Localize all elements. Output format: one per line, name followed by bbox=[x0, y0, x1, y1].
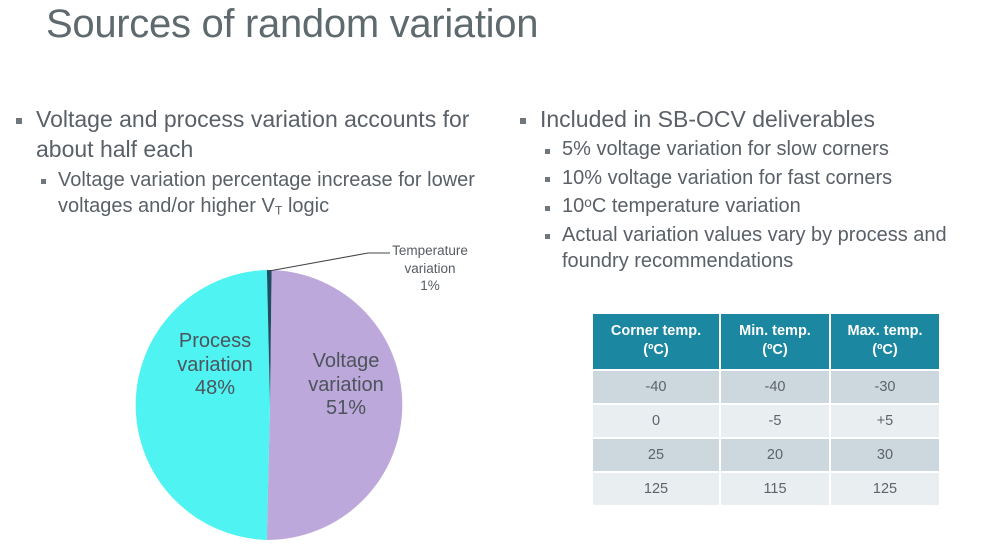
header-line2: (ºC) bbox=[872, 342, 897, 358]
list-item: 10% voltage variation for fast corners bbox=[542, 165, 996, 191]
table-row: 25 20 30 bbox=[593, 439, 939, 471]
list-item: Included in SB-OCV deliverables bbox=[516, 104, 996, 134]
table-row: 0 -5 +5 bbox=[593, 405, 939, 437]
table-header-cell-corner-temp: Corner temp. (ºC) bbox=[593, 314, 719, 369]
table-cell: 20 bbox=[721, 439, 829, 471]
table-cell: 30 bbox=[831, 439, 939, 471]
table-cell: -30 bbox=[831, 371, 939, 403]
pie-slice-process[interactable] bbox=[136, 270, 270, 540]
table-cell: 125 bbox=[831, 473, 939, 505]
header-line1: Min. temp. bbox=[739, 323, 811, 339]
corner-temperature-table: Corner temp. (ºC) Min. temp. (ºC) Max. t… bbox=[591, 312, 941, 507]
bullet-text-tail: C temperature variation bbox=[592, 195, 801, 217]
header-line2: (ºC) bbox=[762, 342, 787, 358]
table-cell: +5 bbox=[831, 405, 939, 437]
bullet-text: 10 bbox=[562, 195, 584, 217]
bullet-text: Actual variation values vary by process … bbox=[562, 224, 947, 272]
table-header: Corner temp. (ºC) Min. temp. (ºC) Max. t… bbox=[593, 314, 939, 369]
bullet-text: 10% voltage variation for fast corners bbox=[562, 167, 892, 189]
right-bullet-list: Included in SB-OCV deliverables 5% volta… bbox=[516, 104, 996, 274]
table-cell: -40 bbox=[721, 371, 829, 403]
bullet-text: 5% voltage variation for slow corners bbox=[562, 138, 889, 160]
table-cell: 115 bbox=[721, 473, 829, 505]
right-content-column: Included in SB-OCV deliverables 5% volta… bbox=[516, 104, 996, 276]
table-header-cell-min-temp: Min. temp. (ºC) bbox=[721, 314, 829, 369]
bullet-text: Voltage and process variation accounts f… bbox=[36, 106, 469, 162]
header-line1: Corner temp. bbox=[611, 323, 701, 339]
degree-superscript: o bbox=[584, 195, 592, 210]
table-cell: -5 bbox=[721, 405, 829, 437]
callout-leader-line bbox=[269, 253, 390, 271]
bullet-text: Voltage variation percentage increase fo… bbox=[58, 169, 475, 217]
table-header-row: Corner temp. (ºC) Min. temp. (ºC) Max. t… bbox=[593, 314, 939, 369]
header-line2: (ºC) bbox=[643, 342, 668, 358]
pie-chart: Process variation 48% Voltage variation … bbox=[118, 238, 498, 548]
table-cell: -40 bbox=[593, 371, 719, 403]
table-body: -40 -40 -30 0 -5 +5 25 20 30 125 115 125 bbox=[593, 371, 939, 505]
list-item: Actual variation values vary by process … bbox=[542, 222, 996, 275]
table-header-cell-max-temp: Max. temp. (ºC) bbox=[831, 314, 939, 369]
left-content-column: Voltage and process variation accounts f… bbox=[12, 104, 490, 222]
table-row: -40 -40 -30 bbox=[593, 371, 939, 403]
pie-slice-voltage[interactable] bbox=[267, 270, 403, 540]
bullet-text-tail: logic bbox=[282, 195, 329, 217]
pie-chart-svg bbox=[118, 238, 498, 548]
bullet-text: Included in SB-OCV deliverables bbox=[540, 106, 875, 132]
page-title: Sources of random variation bbox=[46, 2, 538, 47]
table-cell: 125 bbox=[593, 473, 719, 505]
table-cell: 0 bbox=[593, 405, 719, 437]
header-line1: Max. temp. bbox=[848, 323, 923, 339]
left-bullet-list: Voltage and process variation accounts f… bbox=[12, 104, 490, 220]
table-cell: 25 bbox=[593, 439, 719, 471]
list-item: 10oC temperature variation bbox=[542, 193, 996, 219]
table-row: 125 115 125 bbox=[593, 473, 939, 505]
list-item: Voltage and process variation accounts f… bbox=[12, 104, 490, 165]
list-item: Voltage variation percentage increase fo… bbox=[38, 167, 490, 220]
list-item: 5% voltage variation for slow corners bbox=[542, 136, 996, 162]
